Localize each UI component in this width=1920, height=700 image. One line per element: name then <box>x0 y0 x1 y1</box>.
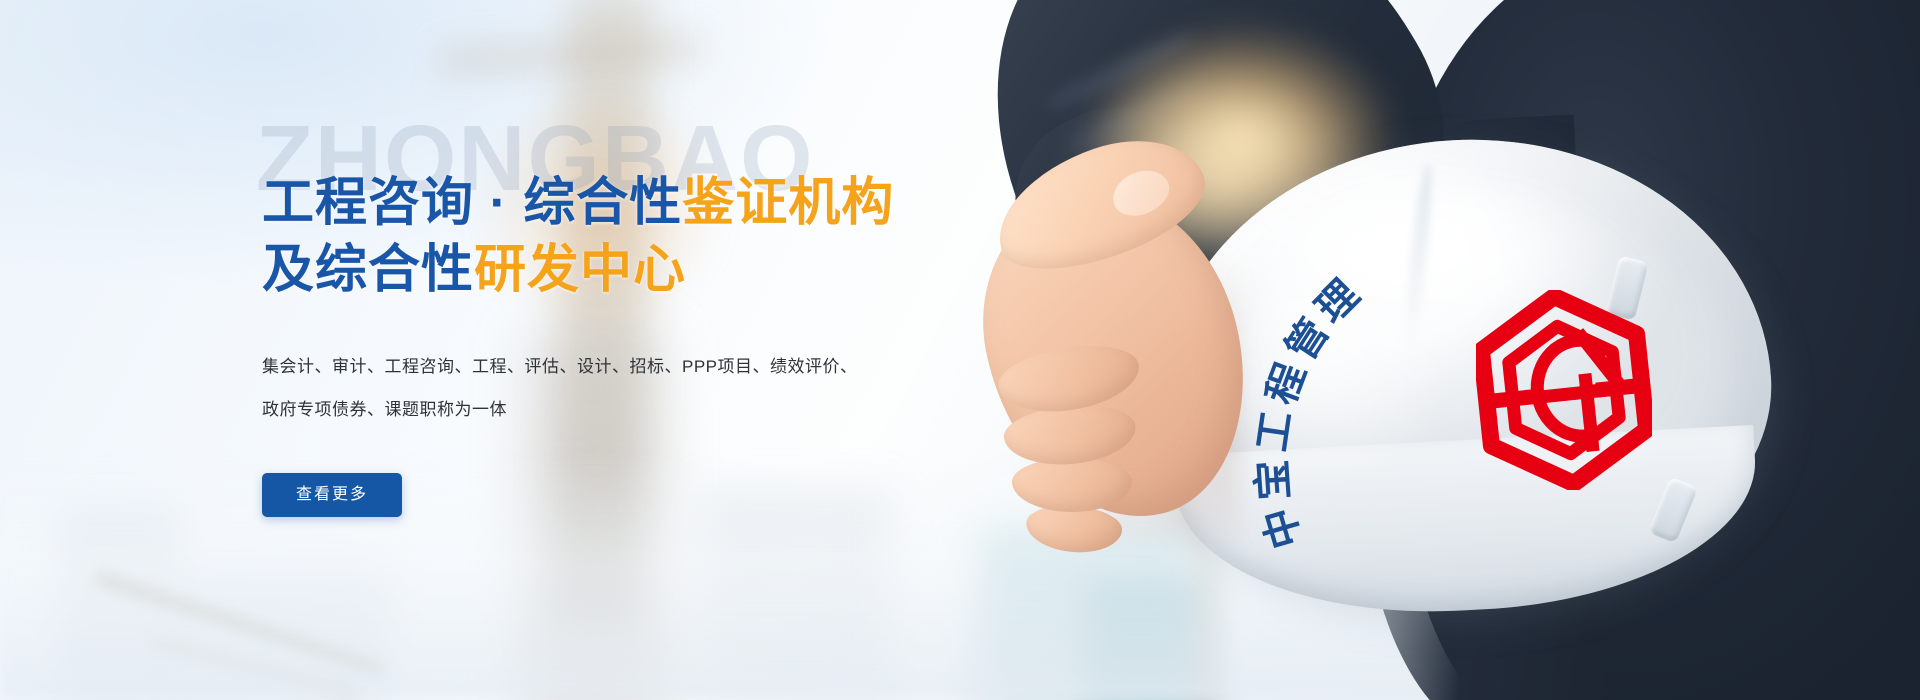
hero-description-line-2: 政府专项债券、课题职称为一体 <box>262 388 902 431</box>
hero-description-line-1: 集会计、审计、工程咨询、工程、评估、设计、招标、PPP项目、绩效评价、 <box>262 345 902 388</box>
headline-line-1: 工程咨询 · 综合性鉴证机构 <box>262 170 1042 237</box>
page-title: 工程咨询 · 综合性鉴证机构 及综合性研发中心 <box>262 170 1042 303</box>
hero-content: ZHONGBAO 工程咨询 · 综合性鉴证机构 及综合性研发中心 集会计、审计、… <box>262 118 1042 517</box>
headline-line-2-accent: 研发中心 <box>474 241 686 299</box>
hero-description: 集会计、审计、工程咨询、工程、评估、设计、招标、PPP项目、绩效评价、 政府专项… <box>262 345 902 432</box>
hero-banner: 中宝工程管理 <box>0 0 1920 700</box>
headline-line-2: 及综合性研发中心 <box>262 237 1042 304</box>
headline-line-2-primary: 及综合性 <box>262 241 474 299</box>
view-more-button[interactable]: 查看更多 <box>262 473 402 517</box>
headline-line-1-accent: 鉴证机构 <box>682 174 894 232</box>
zhongbao-hexagon-emblem-icon <box>1476 290 1652 490</box>
headline-line-1-primary: 工程咨询 · 综合性 <box>262 174 682 232</box>
